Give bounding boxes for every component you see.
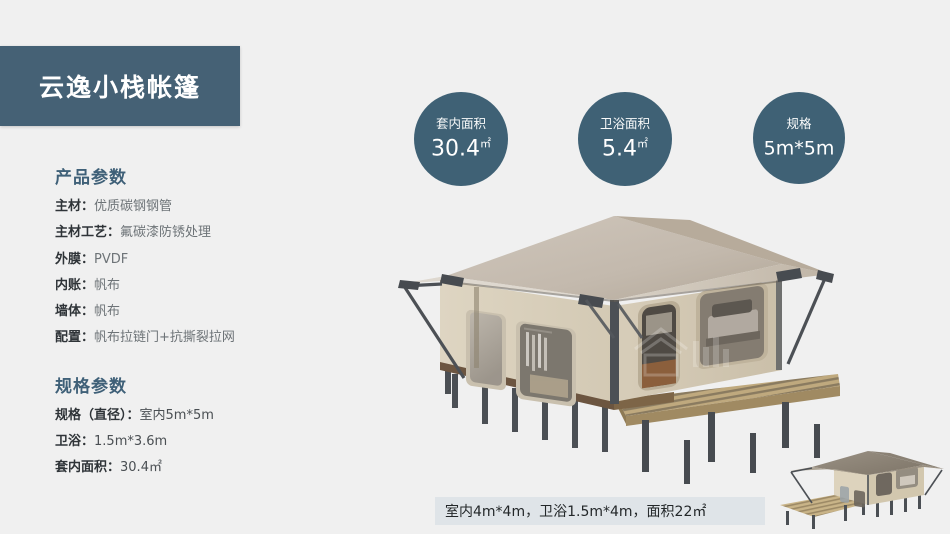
spec-value: 室内5m*5m [140,408,214,423]
spec-key: 外膜： [55,252,94,267]
title-banner: 云逸小栈帐篷 [0,46,240,126]
spec-section-dimensions: 规格参数 规格（直径）：室内5m*5m 卫浴：1.5m*3.6m 套内面积：30… [55,372,355,476]
stat-badge-bathroom-area: 卫浴面积 5.4㎡ [578,92,672,186]
stat-badge-label: 卫浴面积 [600,118,650,131]
spec-value: 帆布 [94,304,120,319]
stat-badge-interior-area: 套内面积 30.4㎡ [414,92,508,186]
spec-list-dimensions: 规格（直径）：室内5m*5m 卫浴：1.5m*3.6m 套内面积：30.4㎡ [55,409,355,476]
stat-badge-value: 30.4㎡ [431,138,491,160]
stat-badge-label: 套内面积 [436,118,486,131]
section-heading-product: 产品参数 [55,163,355,188]
section-heading-dimensions: 规格参数 [55,372,355,397]
spec-row: 配置：帆布拉链门+抗撕裂拉网 [55,331,355,345]
spec-key: 墙体： [55,304,94,319]
page-title: 云逸小栈帐篷 [39,68,201,104]
stat-badge-unit: ㎡ [480,137,491,150]
spec-row: 套内面积：30.4㎡ [55,461,355,475]
stat-badge-unit: ㎡ [637,137,648,150]
caption-bar: 室内4m*4m，卫浴1.5m*4m，面积22㎡ [435,497,765,525]
spec-list-product: 主材：优质碳钢钢管 主材工艺：氟碳漆防锈处理 外膜：PVDF 内账：帆布 墙体：… [55,200,355,346]
spec-row: 主材工艺：氟碳漆防锈处理 [55,226,355,240]
spec-value: 氟碳漆防锈处理 [120,225,211,240]
caption-text: 室内4m*4m，卫浴1.5m*4m，面积22㎡ [445,501,706,521]
spec-section-product: 产品参数 主材：优质碳钢钢管 主材工艺：氟碳漆防锈处理 外膜：PVDF 内账：帆… [55,163,355,346]
spec-row: 外膜：PVDF [55,253,355,267]
spec-key: 卫浴： [55,434,94,449]
stat-badge-value: 5m*5m [764,138,835,158]
spec-value: 优质碳钢钢管 [94,199,172,214]
product-spec-page: 云逸小栈帐篷 产品参数 主材：优质碳钢钢管 主材工艺：氟碳漆防锈处理 外膜：PV… [0,0,950,534]
stat-badge-value: 5.4㎡ [602,138,648,160]
spec-value: 30.4㎡ [120,460,162,475]
spec-value: 帆布 [94,278,120,293]
spec-key: 主材工艺： [55,225,120,240]
spec-value: 帆布拉链门+抗撕裂拉网 [94,330,235,345]
spec-key: 套内面积： [55,460,120,475]
spec-value: PVDF [94,252,128,267]
spec-value: 1.5m*3.6m [94,434,167,449]
spec-row: 墙体：帆布 [55,305,355,319]
spec-row: 规格（直径）：室内5m*5m [55,409,355,423]
spec-key: 配置： [55,330,94,345]
spec-panel: 产品参数 主材：优质碳钢钢管 主材工艺：氟碳漆防锈处理 外膜：PVDF 内账：帆… [55,163,355,488]
stat-badge-size: 规格 5m*5m [753,92,845,184]
spec-key: 规格（直径）： [55,408,140,423]
tent-thumbnail-svg [772,443,948,531]
stat-badge-label: 规格 [786,118,811,131]
spec-key: 内账： [55,278,94,293]
spec-row: 主材：优质碳钢钢管 [55,200,355,214]
spec-row: 内账：帆布 [55,279,355,293]
tent-thumbnail[interactable] [772,443,948,531]
spec-key: 主材： [55,199,94,214]
spec-row: 卫浴：1.5m*3.6m [55,435,355,449]
